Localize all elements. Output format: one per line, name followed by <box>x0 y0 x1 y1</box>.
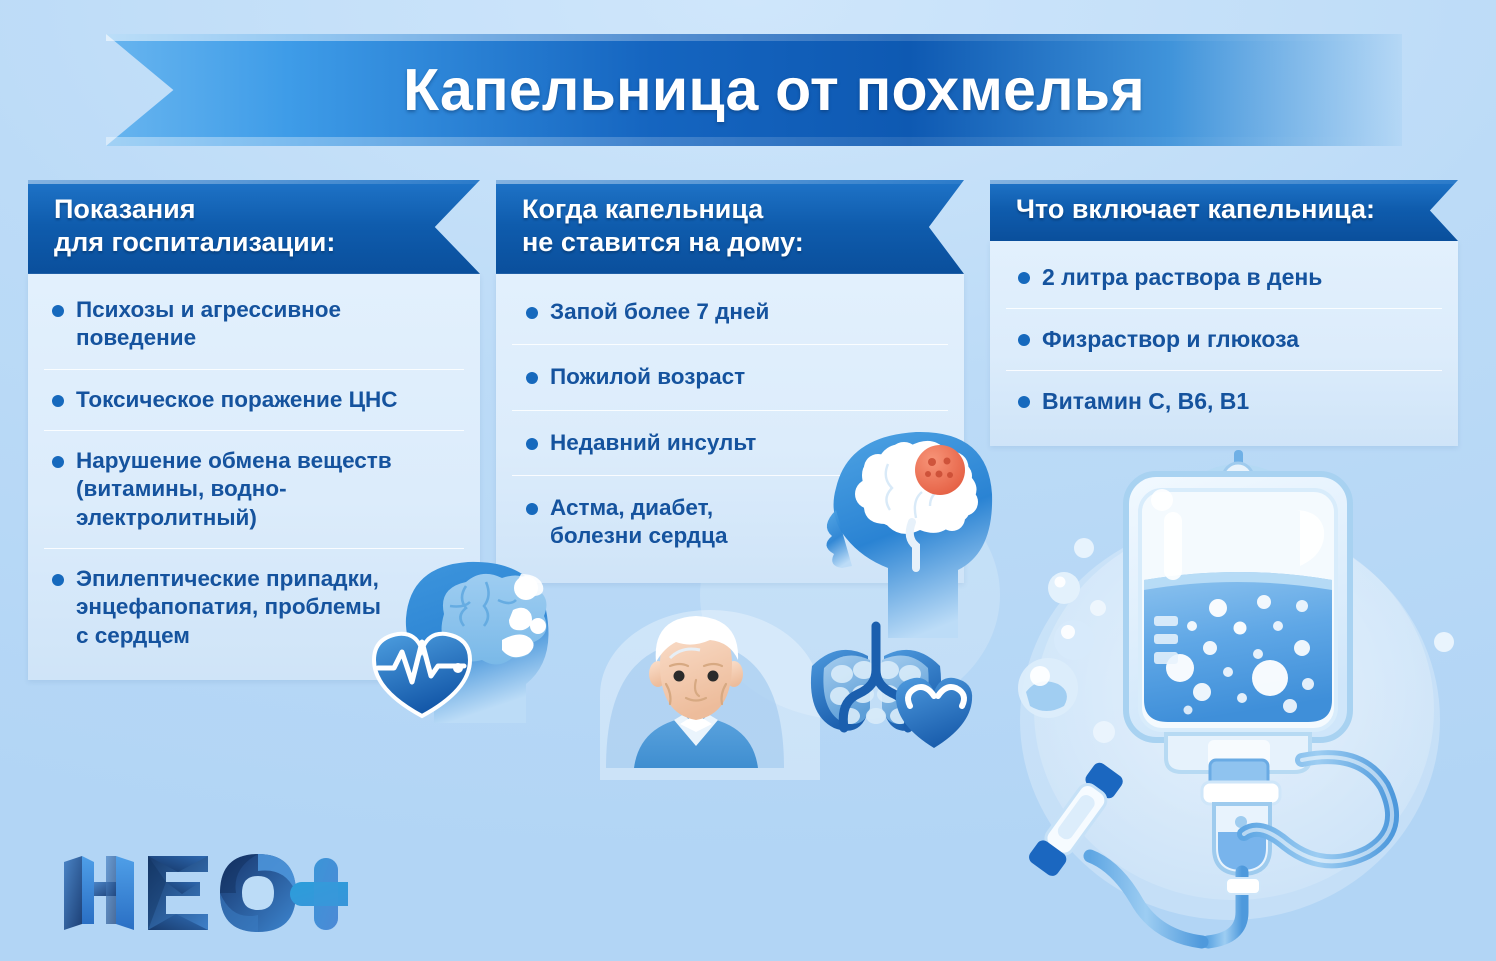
bullet-dot-icon <box>526 372 538 384</box>
elderly-man-portrait-icon <box>600 600 790 770</box>
bullet-dot-icon <box>1018 334 1030 346</box>
bullet-dot-icon <box>526 438 538 450</box>
list-item-label: Астма, диабет, болезни сердца <box>550 494 728 551</box>
bullet-dot-icon <box>1018 396 1030 408</box>
header-gloss <box>28 180 480 184</box>
column-header-label: Когда капельница не ставится на дому: <box>522 194 804 257</box>
page-title: Капельница от похмелья <box>106 34 1402 146</box>
column-indications: Показания для госпитализации: Психозы и … <box>28 180 480 680</box>
list-item-label: 2 литра раствора в день <box>1042 263 1322 292</box>
bullet-dot-icon <box>52 456 64 468</box>
list-item-label: Недавний инсульт <box>550 429 756 457</box>
list-item-label: Пожилой возраст <box>550 363 745 391</box>
list-item-label: Витамин С, В6, В1 <box>1042 387 1249 416</box>
list-item: Физраствор и глюкоза <box>1006 309 1442 371</box>
list-item: Недавний инсульт <box>512 411 948 476</box>
list-contraindications: Запой более 7 дней Пожилой возраст Недав… <box>512 280 948 569</box>
bullet-dot-icon <box>52 395 64 407</box>
bullet-dot-icon <box>52 305 64 317</box>
list-item: Пожилой возраст <box>512 345 948 410</box>
list-item-label: Запой более 7 дней <box>550 298 769 326</box>
header-gloss <box>496 180 964 184</box>
background-blob <box>1020 520 1440 920</box>
logo-plus <box>290 858 348 930</box>
column-header-label: Показания для госпитализации: <box>54 194 335 257</box>
list-contents: 2 литра раствора в день Физраствор и глю… <box>1006 247 1442 432</box>
list-item: Витамин С, В6, В1 <box>1006 371 1442 432</box>
header-gloss <box>990 180 1458 184</box>
lungs-and-heart-icon <box>800 618 975 758</box>
logo-letter-n <box>64 856 134 930</box>
list-item: Эпилептические припадки, энцефапопатия, … <box>44 549 464 666</box>
column-contraindications: Когда капельница не ставится на дому: За… <box>496 180 964 583</box>
infographic-canvas: Капельница от похмелья Показания для гос… <box>0 0 1496 961</box>
panel-indications: Психозы и агрессивное поведение Токсичес… <box>28 274 480 680</box>
iv-drip-bag-icon <box>1002 430 1484 950</box>
bullet-dot-icon <box>52 574 64 586</box>
list-item: Токсическое поражение ЦНС <box>44 370 464 431</box>
column-header-contents: Что включает капельница: <box>990 180 1458 241</box>
title-banner: Капельница от похмелья <box>106 34 1402 146</box>
bullet-dot-icon <box>526 503 538 515</box>
list-item: Психозы и агрессивное поведение <box>44 280 464 370</box>
list-item-label: Физраствор и глюкоза <box>1042 325 1299 354</box>
list-item-label: Эпилептические припадки, энцефапопатия, … <box>76 565 381 650</box>
column-header-label: Что включает капельница: <box>1016 194 1375 224</box>
panel-contraindications: Запой более 7 дней Пожилой возраст Недав… <box>496 274 964 583</box>
list-item: Нарушение обмена веществ (витамины, водн… <box>44 431 464 549</box>
brand-logo <box>58 838 348 934</box>
bullet-dot-icon <box>526 307 538 319</box>
column-header-contraindications: Когда капельница не ставится на дому: <box>496 180 964 274</box>
list-item-label: Токсическое поражение ЦНС <box>76 386 398 414</box>
background-blob <box>600 610 820 780</box>
column-contents: Что включает капельница: 2 литра раствор… <box>990 180 1458 446</box>
list-item: Запой более 7 дней <box>512 280 948 345</box>
panel-contents: 2 литра раствора в день Физраствор и глю… <box>990 241 1458 446</box>
logo-letter-o <box>220 854 296 932</box>
list-item: 2 литра раствора в день <box>1006 247 1442 309</box>
list-indications: Психозы и агрессивное поведение Токсичес… <box>44 280 464 666</box>
logo-letter-e <box>148 856 208 930</box>
list-item-label: Нарушение обмена веществ (витамины, водн… <box>76 447 460 532</box>
list-item: Астма, диабет, болезни сердца <box>512 476 948 569</box>
bullet-dot-icon <box>1018 272 1030 284</box>
column-header-indications: Показания для госпитализации: <box>28 180 480 274</box>
list-item-label: Психозы и агрессивное поведение <box>76 296 341 353</box>
